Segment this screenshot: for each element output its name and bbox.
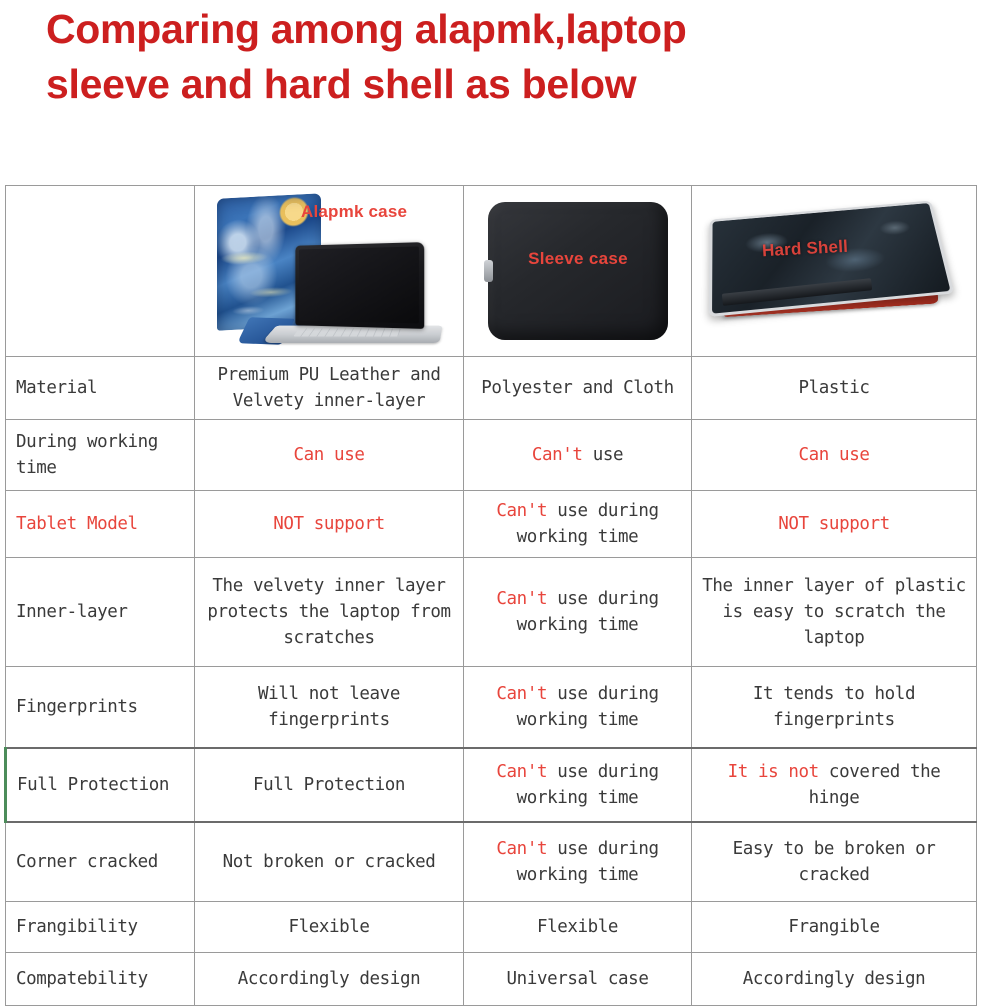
row-label-during-working-time: During working time bbox=[6, 420, 195, 491]
row-label-text: Tablet Model bbox=[16, 514, 138, 534]
cell-material-sleeve: Polyester and Cloth bbox=[464, 357, 692, 420]
cell-text: Universal case bbox=[507, 969, 649, 989]
sleeve-case-label: Sleeve case bbox=[488, 246, 668, 272]
product-image-header-row: Alapmk case Sleeve case bbox=[6, 186, 977, 357]
cell-text: Easy to be broken or cracked bbox=[733, 839, 936, 885]
cell-text: Accordingly design bbox=[238, 969, 420, 989]
cell-corner-cracked-alapmk: Not broken or cracked bbox=[195, 822, 464, 902]
comparison-table: Alapmk case Sleeve case bbox=[4, 185, 977, 1006]
sleeve-illustration: Sleeve case bbox=[488, 202, 668, 340]
table-row: FrangibilityFlexibleFlexibleFrangible bbox=[6, 902, 977, 953]
cell-text: Not broken or cracked bbox=[223, 852, 436, 872]
cell-compatebility-hardshell: Accordingly design bbox=[692, 953, 977, 1006]
product-cell-hardshell: Hard Shell bbox=[692, 186, 977, 357]
hard-shell-label: Hard Shell bbox=[761, 234, 848, 264]
cell-text: Plastic bbox=[799, 378, 870, 398]
tablet-hardshell-illustration: Hard Shell bbox=[710, 200, 958, 340]
cell-text-accent: Can't bbox=[532, 445, 583, 465]
cell-tablet-model-sleeve: Can't use during working time bbox=[464, 491, 692, 558]
row-label-text: Inner-layer bbox=[16, 602, 128, 622]
cell-during-working-time-alapmk: Can use bbox=[195, 420, 464, 491]
cell-text: It tends to hold fingerprints bbox=[753, 684, 915, 730]
cell-text: The inner layer of plastic is easy to sc… bbox=[702, 576, 966, 648]
cell-text: use bbox=[583, 445, 624, 465]
row-label-text: During working time bbox=[16, 432, 158, 478]
cell-text-accent: Can use bbox=[799, 445, 870, 465]
table-row: CompatebilityAccordingly designUniversal… bbox=[6, 953, 977, 1006]
cell-compatebility-alapmk: Accordingly design bbox=[195, 953, 464, 1006]
product-cell-alapmk: Alapmk case bbox=[195, 186, 464, 357]
comparison-rows: MaterialPremium PU Leather and Velvety i… bbox=[6, 357, 977, 1006]
cell-full-protection-hardshell: It is not covered the hinge bbox=[692, 748, 977, 822]
table-row: Corner crackedNot broken or crackedCan't… bbox=[6, 822, 977, 902]
table-row: MaterialPremium PU Leather and Velvety i… bbox=[6, 357, 977, 420]
cell-frangibility-alapmk: Flexible bbox=[195, 902, 464, 953]
cell-text: Premium PU Leather and Velvety inner-lay… bbox=[218, 365, 441, 411]
cell-text-accent: Can't bbox=[496, 589, 547, 609]
empty-corner-cell bbox=[6, 186, 195, 357]
cell-full-protection-sleeve: Can't use during working time bbox=[464, 748, 692, 822]
cell-text-accent: Can't bbox=[496, 501, 547, 521]
cell-text: Flexible bbox=[288, 917, 369, 937]
cell-text: Frangible bbox=[788, 917, 879, 937]
cell-material-hardshell: Plastic bbox=[692, 357, 977, 420]
row-label-compatebility: Compatebility bbox=[6, 953, 195, 1006]
cell-text-accent: Can't bbox=[496, 839, 547, 859]
cell-tablet-model-hardshell: NOT support bbox=[692, 491, 977, 558]
cell-text: The velvety inner layer protects the lap… bbox=[207, 576, 450, 648]
cell-fingerprints-sleeve: Can't use during working time bbox=[464, 667, 692, 749]
row-label-material: Material bbox=[6, 357, 195, 420]
row-label-fingerprints: Fingerprints bbox=[6, 667, 195, 749]
table-row: Tablet ModelNOT supportCan't use during … bbox=[6, 491, 977, 558]
row-label-text: Compatebility bbox=[16, 969, 148, 989]
row-label-inner-layer: Inner-layer bbox=[6, 558, 195, 667]
cell-frangibility-sleeve: Flexible bbox=[464, 902, 692, 953]
cell-inner-layer-hardshell: The inner layer of plastic is easy to sc… bbox=[692, 558, 977, 667]
cell-corner-cracked-sleeve: Can't use during working time bbox=[464, 822, 692, 902]
cell-during-working-time-sleeve: Can't use bbox=[464, 420, 692, 491]
table-row: Full ProtectionFull ProtectionCan't use … bbox=[6, 748, 977, 822]
cell-during-working-time-hardshell: Can use bbox=[692, 420, 977, 491]
page-title-line-1: Comparing among alapmk,laptop bbox=[46, 2, 946, 57]
cell-material-alapmk: Premium PU Leather and Velvety inner-lay… bbox=[195, 357, 464, 420]
row-label-text: Fingerprints bbox=[16, 697, 138, 717]
alapmk-product-image: Alapmk case bbox=[195, 186, 463, 356]
cell-text-accent: Can use bbox=[294, 445, 365, 465]
row-label-frangibility: Frangibility bbox=[6, 902, 195, 953]
cell-text-accent: NOT support bbox=[778, 514, 890, 534]
alapmk-case-label: Alapmk case bbox=[301, 199, 407, 225]
cell-text: covered the hinge bbox=[809, 762, 941, 808]
row-label-text: Full Protection bbox=[17, 775, 169, 795]
sleeve-product-image: Sleeve case bbox=[464, 186, 691, 356]
cell-fingerprints-alapmk: Will not leave fingerprints bbox=[195, 667, 464, 749]
product-cell-sleeve: Sleeve case bbox=[464, 186, 692, 357]
cell-text-accent: It is not bbox=[728, 762, 819, 782]
page-title-line-2: sleeve and hard shell as below bbox=[46, 57, 946, 112]
row-label-text: Material bbox=[16, 378, 97, 398]
row-label-full-protection: Full Protection bbox=[6, 748, 195, 822]
cell-text-accent: Can't bbox=[496, 684, 547, 704]
table-row: Inner-layerThe velvety inner layer prote… bbox=[6, 558, 977, 667]
cell-text-accent: NOT support bbox=[273, 514, 385, 534]
cell-text: Flexible bbox=[537, 917, 618, 937]
cell-tablet-model-alapmk: NOT support bbox=[195, 491, 464, 558]
cell-inner-layer-alapmk: The velvety inner layer protects the lap… bbox=[195, 558, 464, 667]
cell-frangibility-hardshell: Frangible bbox=[692, 902, 977, 953]
cell-text: Polyester and Cloth bbox=[481, 378, 674, 398]
row-label-corner-cracked: Corner cracked bbox=[6, 822, 195, 902]
row-label-text: Corner cracked bbox=[16, 852, 158, 872]
table-row: FingerprintsWill not leave fingerprintsC… bbox=[6, 667, 977, 749]
cell-corner-cracked-hardshell: Easy to be broken or cracked bbox=[692, 822, 977, 902]
cell-inner-layer-sleeve: Can't use during working time bbox=[464, 558, 692, 667]
cell-text: Accordingly design bbox=[743, 969, 925, 989]
cell-text-accent: Can't bbox=[496, 762, 547, 782]
row-label-text: Frangibility bbox=[16, 917, 138, 937]
cell-fingerprints-hardshell: It tends to hold fingerprints bbox=[692, 667, 977, 749]
hardshell-product-image: Hard Shell bbox=[692, 186, 976, 356]
laptop-screen-icon bbox=[295, 242, 424, 329]
page-title: Comparing among alapmk,laptop sleeve and… bbox=[46, 2, 946, 112]
cell-text: Full Protection bbox=[253, 775, 405, 795]
cell-text: Will not leave fingerprints bbox=[258, 684, 400, 730]
cell-compatebility-sleeve: Universal case bbox=[464, 953, 692, 1006]
table-row: During working timeCan useCan't useCan u… bbox=[6, 420, 977, 491]
row-label-tablet-model: Tablet Model bbox=[6, 491, 195, 558]
cell-full-protection-alapmk: Full Protection bbox=[195, 748, 464, 822]
